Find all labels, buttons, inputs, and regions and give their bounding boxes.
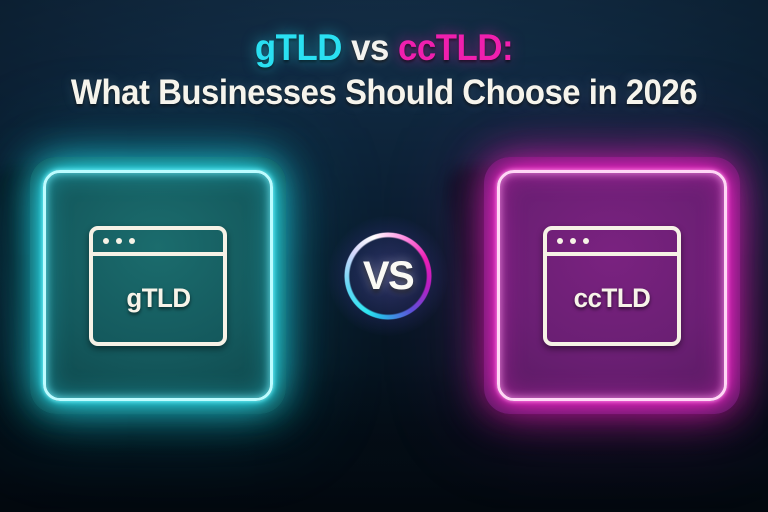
card-gtld[interactable]: gTLD: [30, 157, 286, 414]
card-gtld-label: gTLD: [126, 283, 190, 314]
card-cctld-label: ccTLD: [574, 283, 651, 314]
browser-dot-icon: [129, 238, 135, 244]
title-line-2: What Businesses Should Choose in 2026: [23, 74, 745, 111]
browser-dot-icon: [557, 238, 563, 244]
vs-badge: VS: [344, 232, 432, 320]
vs-badge-label: VS: [344, 232, 432, 320]
browser-dot-icon: [103, 238, 109, 244]
title-term-gtld: gTLD: [255, 27, 342, 68]
card-cctld[interactable]: ccTLD: [484, 157, 740, 414]
title-line-1: gTLD vs ccTLD:: [23, 28, 745, 67]
browser-title-bar: [93, 230, 223, 256]
title-term-cctld: ccTLD:: [398, 27, 513, 68]
browser-viewport: ccTLD: [547, 256, 677, 342]
browser-viewport: gTLD: [93, 256, 223, 342]
browser-dot-icon: [583, 238, 589, 244]
browser-window-icon: gTLD: [89, 226, 227, 346]
browser-title-bar: [547, 230, 677, 256]
title-term-vs: vs: [342, 27, 398, 68]
poster-canvas: gTLD vs ccTLD: What Businesses Should Ch…: [0, 0, 768, 512]
browser-dot-icon: [116, 238, 122, 244]
browser-window-icon: ccTLD: [543, 226, 681, 346]
title-block: gTLD vs ccTLD: What Businesses Should Ch…: [0, 28, 768, 111]
browser-dot-icon: [570, 238, 576, 244]
